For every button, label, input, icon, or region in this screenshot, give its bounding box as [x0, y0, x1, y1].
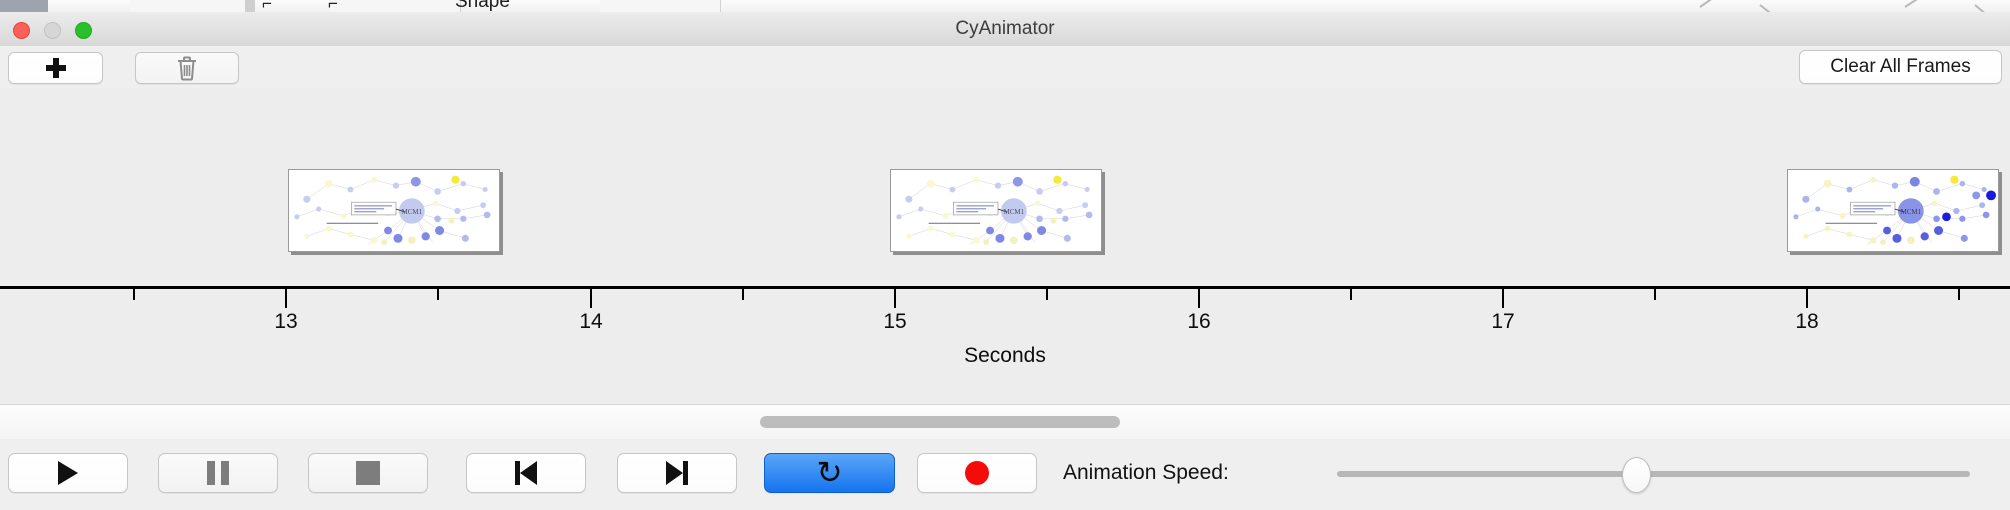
bg-stroke	[1699, 0, 1735, 8]
delete-frame-button[interactable]	[135, 52, 239, 84]
ruler-tick	[1806, 289, 1808, 308]
axis-title: Seconds	[0, 344, 2010, 368]
bg-chip	[0, 0, 48, 12]
ruler-tick	[1198, 289, 1200, 308]
svg-text:MCM1: MCM1	[1901, 209, 1922, 216]
bg-chip	[245, 0, 255, 12]
clear-all-frames-button[interactable]: Clear All Frames	[1799, 50, 2002, 84]
loop-button[interactable]: ↻	[764, 453, 895, 493]
record-icon	[965, 461, 989, 485]
bg-toolbar-segment	[330, 0, 461, 12]
pause-icon	[207, 461, 229, 485]
ruler-label: 15	[883, 310, 906, 334]
skip-end-icon	[666, 461, 688, 485]
ruler-tick	[742, 289, 744, 300]
horizontal-scrollbar[interactable]	[0, 404, 2010, 440]
animation-speed-label: Animation Speed:	[1063, 453, 1229, 493]
plus-icon	[46, 58, 66, 78]
ruler-tick	[133, 289, 135, 300]
trash-icon	[175, 55, 199, 81]
timeline-panel[interactable]: MCM1	[0, 88, 2010, 404]
skip-end-button[interactable]	[617, 453, 737, 493]
ruler-tick	[590, 289, 592, 308]
network-graph-preview: MCM1	[891, 170, 1101, 251]
bg-toolbar-segment	[130, 0, 246, 12]
stop-button[interactable]	[308, 453, 428, 493]
ruler-label: 13	[274, 310, 297, 334]
ruler-tick	[1654, 289, 1656, 300]
title-bar[interactable]: CyAnimator	[0, 12, 2010, 47]
window-title: CyAnimator	[0, 12, 2010, 46]
ruler-label: 14	[579, 310, 602, 334]
ruler-tick	[1350, 289, 1352, 300]
ruler-tick	[437, 289, 439, 300]
svg-text:MCM1: MCM1	[1004, 209, 1025, 216]
ruler-tick	[1502, 289, 1504, 308]
timeline-frame-thumbnail[interactable]: MCM1	[890, 169, 1102, 252]
timeline-frame-thumbnail[interactable]: MCM1	[288, 169, 500, 252]
slider-knob[interactable]	[1622, 457, 1651, 493]
playback-toolbar: ↻ Animation Speed:	[0, 439, 2010, 510]
skip-start-icon	[515, 461, 537, 485]
animation-speed-slider[interactable]	[1337, 471, 1970, 477]
play-icon	[58, 461, 78, 485]
loop-icon: ↻	[817, 458, 843, 489]
toolbar: Clear All Frames	[0, 46, 2010, 89]
cyanimator-window: ⌐ ⌐ Shape CyAnimator Clear All Frames	[0, 0, 2010, 510]
bg-stroke	[1904, 0, 1939, 8]
network-graph-preview: MCM1	[289, 170, 499, 251]
stop-icon	[356, 461, 380, 485]
play-button[interactable]	[8, 453, 128, 493]
record-button[interactable]	[917, 453, 1037, 493]
ruler-tick	[894, 289, 896, 308]
add-frame-button[interactable]	[8, 52, 103, 84]
ruler-label: 16	[1187, 310, 1210, 334]
ruler-tick	[1046, 289, 1048, 300]
timeline-frame-thumbnail[interactable]: MCM1	[1787, 169, 1999, 252]
ruler-label: 17	[1491, 310, 1514, 334]
pause-button[interactable]	[158, 453, 278, 493]
slider-track	[1337, 471, 1970, 477]
ruler-label: 18	[1795, 310, 1818, 334]
ruler-tick	[1958, 289, 1960, 300]
scrollbar-thumb[interactable]	[760, 416, 1120, 428]
network-graph-preview: MCM1	[1788, 170, 1998, 251]
ruler-tick	[285, 289, 287, 308]
timeline-ruler	[0, 286, 2010, 289]
bg-toolbar-segment	[600, 0, 721, 12]
skip-start-button[interactable]	[466, 453, 586, 493]
svg-text:MCM1: MCM1	[402, 209, 423, 216]
